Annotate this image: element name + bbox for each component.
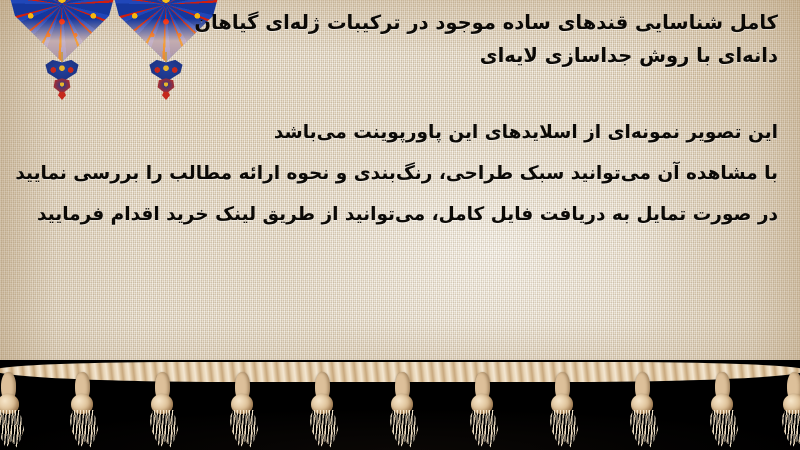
tassel-skirt-icon (468, 410, 498, 448)
tassel-skirt-icon (780, 410, 800, 448)
fringe-tassel (778, 372, 800, 448)
tassel-skirt-icon (708, 410, 738, 448)
fringe-tassel (546, 372, 580, 448)
fringe-tassel (626, 372, 660, 448)
body-line-1: این تصویر نمونه‌ای از اسلایدهای این پاور… (22, 112, 778, 153)
fringe-tassel (466, 372, 500, 448)
tassel-skirt-icon (308, 410, 338, 448)
tassel-skirt-icon (228, 410, 258, 448)
tassel-skirt-icon (0, 410, 24, 448)
tassel-skirt-icon (388, 410, 418, 448)
fringe-tassel (66, 372, 100, 448)
carpet-fringe-band (0, 362, 800, 450)
slide-body: این تصویر نمونه‌ای از اسلایدهای این پاور… (22, 112, 778, 235)
fringe-tassel (306, 372, 340, 448)
body-line-3: در صورت تمایل به دریافت فایل کامل، می‌تو… (22, 194, 778, 235)
tassel-skirt-icon (628, 410, 658, 448)
presentation-slide: کامل شناسایی قندهای ساده موجود در ترکیبا… (0, 0, 800, 450)
fringe-tassel (226, 372, 260, 448)
slide-title: کامل شناسایی قندهای ساده موجود در ترکیبا… (218, 6, 778, 72)
body-line-2: با مشاهده آن می‌توانید سبک طراحی، رنگ‌بن… (22, 153, 778, 194)
tassel-skirt-icon (68, 410, 98, 448)
fringe-tassel (0, 372, 26, 448)
fringe-tassel (146, 372, 180, 448)
slide-text-layer: کامل شناسایی قندهای ساده موجود در ترکیبا… (0, 0, 800, 392)
tassel-skirt-icon (548, 410, 578, 448)
title-line-1: کامل شناسایی قندهای ساده موجود در ترکیبا… (218, 6, 778, 39)
fringe-tassel (386, 372, 420, 448)
title-line-2: دانه‌ای با روش جداسازی لایه‌ای (218, 39, 778, 72)
tassel-skirt-icon (148, 410, 178, 448)
fringe-tassel (706, 372, 740, 448)
